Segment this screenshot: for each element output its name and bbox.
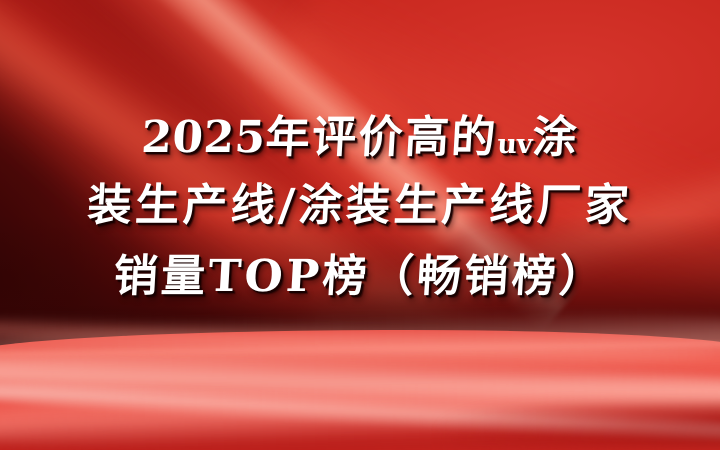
title-line-1: 2025年评价高的uv涂 xyxy=(0,112,720,171)
title-line-1-middle: 年评价高的 xyxy=(264,112,499,163)
title-line-2: 装生产线/涂装生产线厂家 xyxy=(0,171,720,241)
title-line-1-suffix: 涂 xyxy=(531,112,580,163)
promotional-banner: 2025年评价高的uv涂 装生产线/涂装生产线厂家 销量TOP榜（畅销榜） xyxy=(0,0,720,450)
title-line-3: 销量TOP榜（畅销榜） xyxy=(0,241,720,313)
banner-title: 2025年评价高的uv涂 装生产线/涂装生产线厂家 销量TOP榜（畅销榜） xyxy=(0,112,720,313)
title-uv-label: uv xyxy=(497,129,534,160)
title-year: 2025 xyxy=(140,112,267,163)
